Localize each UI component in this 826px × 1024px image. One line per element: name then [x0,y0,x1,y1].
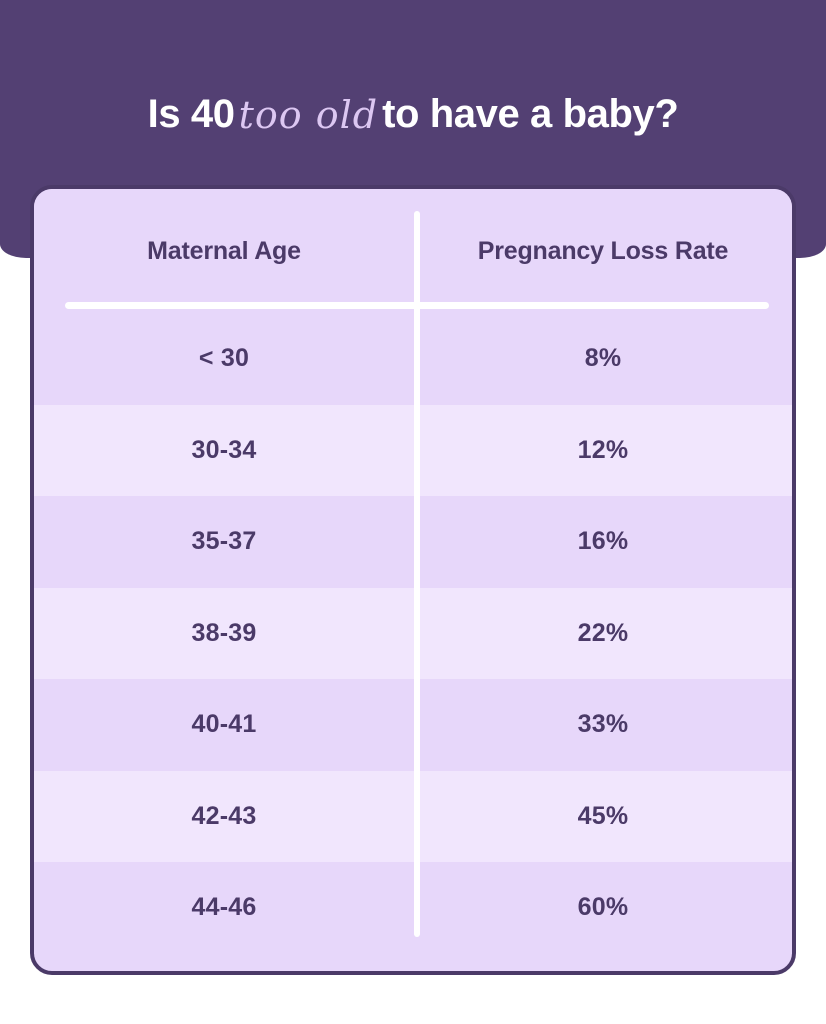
cell-pregnancy-loss-rate: 12% [414,405,792,497]
table-row: 30-34 12% [34,405,792,497]
column-header-maternal-age: Maternal Age [34,189,414,313]
cell-pregnancy-loss-rate: 8% [414,313,792,405]
cell-maternal-age: 42-43 [34,771,414,863]
cell-pregnancy-loss-rate: 60% [414,862,792,954]
pregnancy-loss-table: Maternal Age Pregnancy Loss Rate < 30 8%… [34,189,792,954]
cell-pregnancy-loss-rate: 45% [414,771,792,863]
page-title-suffix: to have a baby? [382,92,678,136]
table-row: 42-43 45% [34,771,792,863]
cell-maternal-age: 30-34 [34,405,414,497]
cell-maternal-age: < 30 [34,313,414,405]
cell-maternal-age: 44-46 [34,862,414,954]
table-body: < 30 8% 30-34 12% 35-37 16% 38-39 22% [34,313,792,954]
cell-pregnancy-loss-rate: 16% [414,496,792,588]
column-header-pregnancy-loss-rate: Pregnancy Loss Rate [414,189,792,313]
table-row: 38-39 22% [34,588,792,680]
table-row: 44-46 60% [34,862,792,954]
page-title-emphasis: too old [235,93,382,137]
table-row: 35-37 16% [34,496,792,588]
data-table-card-inner: Maternal Age Pregnancy Loss Rate < 30 8%… [34,189,792,971]
data-table-card: Maternal Age Pregnancy Loss Rate < 30 8%… [30,185,796,975]
cell-pregnancy-loss-rate: 33% [414,679,792,771]
cell-maternal-age: 38-39 [34,588,414,680]
page-title: Is 40too oldto have a baby? [0,89,826,139]
cell-pregnancy-loss-rate: 22% [414,588,792,680]
table-row: < 30 8% [34,313,792,405]
cell-maternal-age: 40-41 [34,679,414,771]
infographic-root: Is 40too oldto have a baby? Maternal Age… [0,0,826,1024]
table-row: 40-41 33% [34,679,792,771]
page-title-prefix: Is 40 [148,92,235,136]
cell-maternal-age: 35-37 [34,496,414,588]
table-header-row: Maternal Age Pregnancy Loss Rate [34,189,792,313]
